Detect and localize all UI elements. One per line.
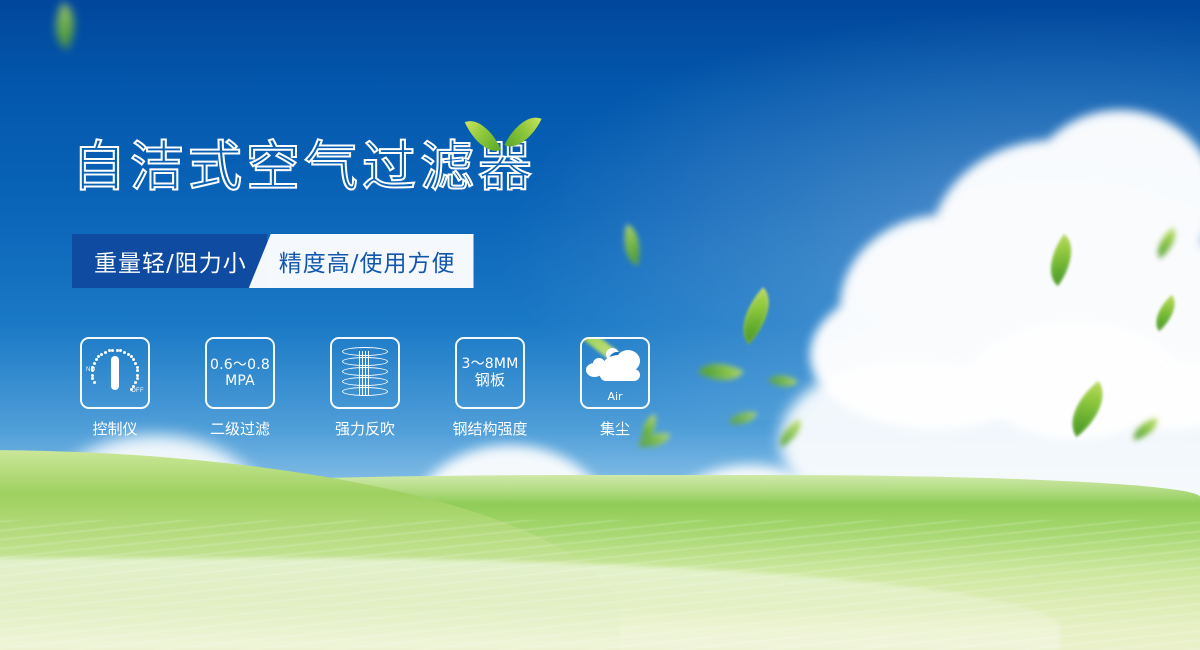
grass-field <box>0 475 1200 650</box>
page-title: 自洁式空气过滤器 <box>72 140 536 194</box>
feature-label: 集尘 <box>600 418 630 439</box>
feature-label: 钢结构强度 <box>453 418 528 439</box>
pressure-value-line1: 0.6〜0.8 <box>210 357 270 373</box>
pressure-value-line2: MPA <box>225 373 255 389</box>
feature-item-dust-collection[interactable]: Air 集尘 <box>580 337 650 439</box>
steel-value-line1: 3〜8MM <box>462 356 519 372</box>
product-banner: 自洁式空气过滤器 重量轻/阻力小 精度高/使用方便 NO OFF 控制仪 <box>0 0 1200 650</box>
feature-icon-box: NO OFF <box>80 337 150 409</box>
feature-icon-box: 3〜8MM 钢板 <box>455 337 525 409</box>
control-dial-icon: NO OFF <box>87 345 143 401</box>
feature-label: 二级过滤 <box>210 418 270 439</box>
subtitle-bar: 重量轻/阻力小 精度高/使用方便 <box>72 234 474 288</box>
grass-texture <box>0 520 1200 650</box>
subtitle-left: 重量轻/阻力小 <box>72 234 267 288</box>
air-cloud-icon <box>586 343 644 389</box>
feature-item-two-stage-filter[interactable]: 0.6〜0.8 MPA 二级过滤 <box>205 337 275 439</box>
feature-item-back-blow[interactable]: 强力反吹 <box>330 337 400 439</box>
feature-item-steel-strength[interactable]: 3〜8MM 钢板 钢结构强度 <box>455 337 525 439</box>
feature-icon-box: 0.6〜0.8 MPA <box>205 337 275 409</box>
feature-icon-box <box>330 337 400 409</box>
dial-off-label: OFF <box>131 388 144 394</box>
feature-icon-box: Air <box>580 337 650 409</box>
subtitle-right: 精度高/使用方便 <box>249 234 474 288</box>
feature-label: 控制仪 <box>92 418 137 439</box>
filter-cartridge-icon <box>342 347 388 399</box>
air-label: Air <box>607 390 622 403</box>
feature-item-control-panel[interactable]: NO OFF 控制仪 <box>80 337 150 439</box>
feature-list: NO OFF 控制仪 0.6〜0.8 MPA 二级过滤 <box>80 337 650 439</box>
sprout-leaves-icon <box>468 108 544 164</box>
steel-value-line2: 钢板 <box>475 372 505 389</box>
dial-on-label: NO <box>86 367 96 373</box>
feature-label: 强力反吹 <box>335 418 395 439</box>
